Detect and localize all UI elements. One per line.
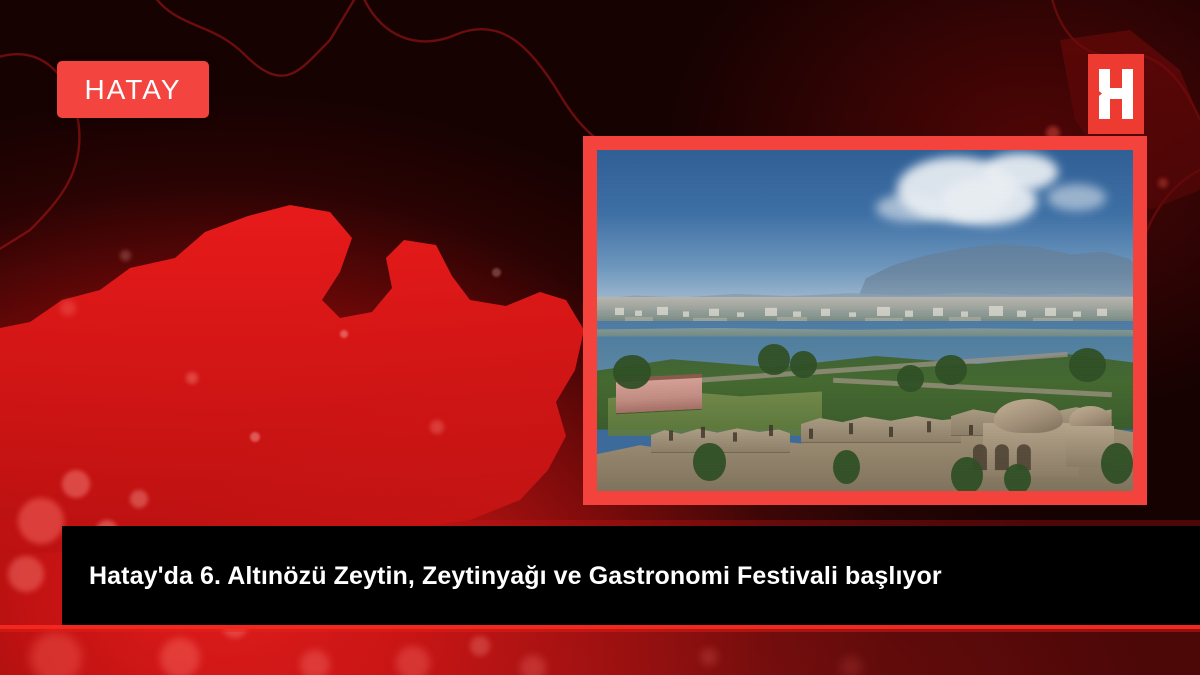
- headline-title: Hatay'da 6. Altınözü Zeytin, Zeytinyağı …: [62, 561, 942, 591]
- photo-grain-overlay: [597, 150, 1133, 491]
- brand-logo[interactable]: [1088, 54, 1144, 134]
- article-photo: [597, 150, 1133, 491]
- h-letter-icon: [1095, 67, 1137, 121]
- headline-bar: Hatay'da 6. Altınözü Zeytin, Zeytinyağı …: [62, 526, 1200, 625]
- headline-accent-glow: [0, 629, 1200, 632]
- article-photo-frame: [583, 136, 1147, 505]
- location-badge[interactable]: HATAY: [57, 61, 209, 118]
- location-badge-label: HATAY: [84, 76, 181, 104]
- news-card-stage: HATAY: [0, 0, 1200, 675]
